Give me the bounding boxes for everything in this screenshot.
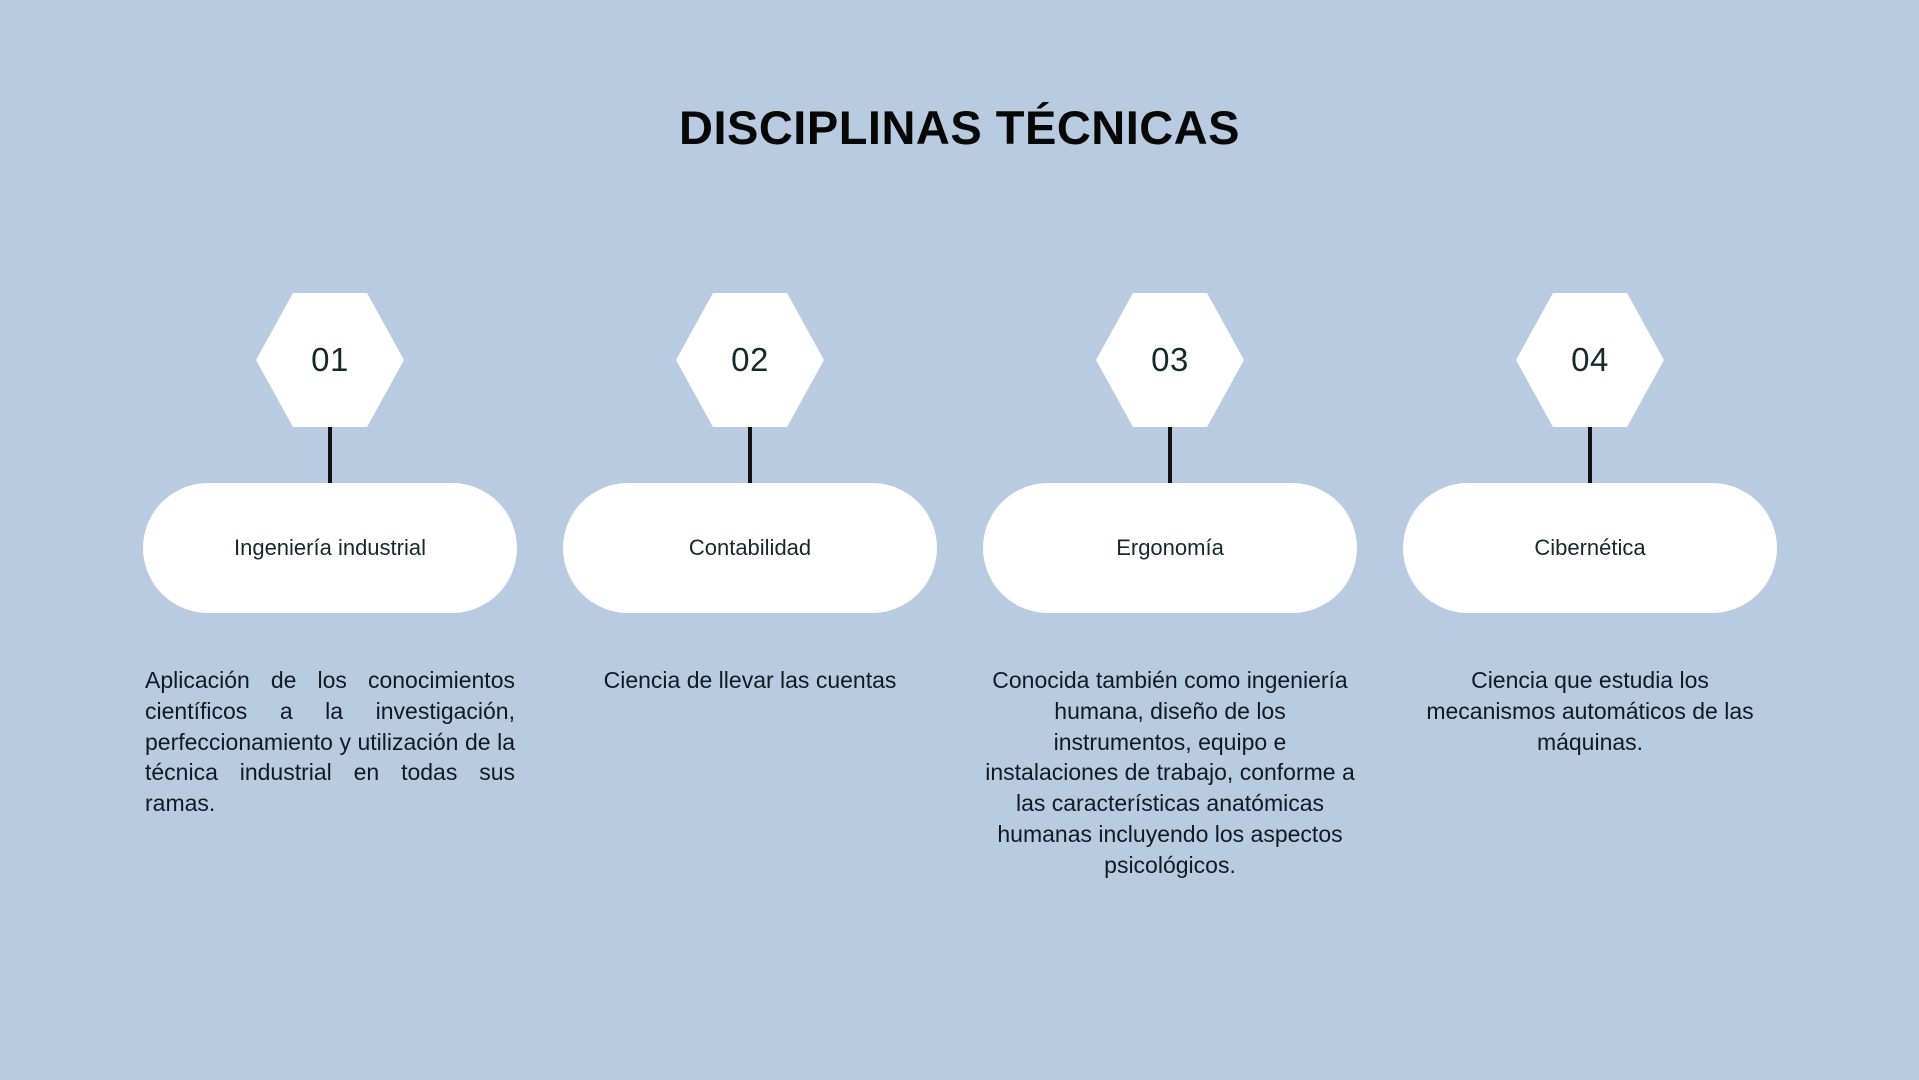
discipline-columns: 01 Ingeniería industrial Aplicación de l… [0,0,1919,1080]
discipline-pill-3[interactable]: Ergonomía [983,483,1357,613]
discipline-description-2: Ciencia de llevar las cuentas [565,665,935,696]
connector-line-3 [1168,427,1172,485]
discipline-column-3: 03 Ergonomía Conocida también como ingen… [960,0,1380,1080]
discipline-column-1: 01 Ingeniería industrial Aplicación de l… [120,0,540,1080]
hexagon-badge-2[interactable]: 02 [676,293,824,427]
discipline-pill-4[interactable]: Cibernética [1403,483,1777,613]
discipline-pill-2[interactable]: Contabilidad [563,483,937,613]
discipline-description-4: Ciencia que estudia los mecanismos autom… [1405,665,1775,757]
connector-line-4 [1588,427,1592,485]
discipline-description-3: Conocida también como ingeniería humana,… [985,665,1355,881]
infographic-canvas: DISCIPLINAS TÉCNICAS 01 Ingeniería indus… [0,0,1919,1080]
discipline-column-4: 04 Cibernética Ciencia que estudia los m… [1380,0,1800,1080]
connector-line-2 [748,427,752,485]
hexagon-number-label: 03 [1096,293,1244,427]
hexagon-badge-1[interactable]: 01 [256,293,404,427]
discipline-title-label: Ingeniería industrial [234,534,426,562]
discipline-title-label: Ergonomía [1116,534,1224,562]
discipline-column-2: 02 Contabilidad Ciencia de llevar las cu… [540,0,960,1080]
discipline-pill-1[interactable]: Ingeniería industrial [143,483,517,613]
hexagon-number-label: 02 [676,293,824,427]
hexagon-badge-3[interactable]: 03 [1096,293,1244,427]
hexagon-badge-4[interactable]: 04 [1516,293,1664,427]
discipline-description-1: Aplicación de los conocimientos científi… [145,665,515,819]
discipline-title-label: Cibernética [1534,534,1645,562]
hexagon-number-label: 01 [256,293,404,427]
discipline-title-label: Contabilidad [689,534,811,562]
connector-line-1 [328,427,332,485]
hexagon-number-label: 04 [1516,293,1664,427]
